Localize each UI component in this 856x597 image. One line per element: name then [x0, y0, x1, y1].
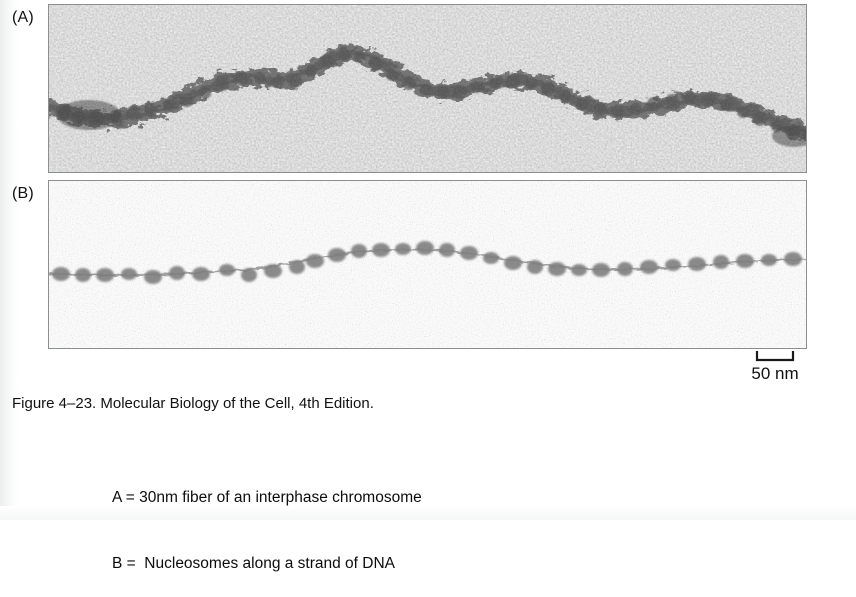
- page-edge-shadow-left: [0, 0, 18, 520]
- panel-a-micrograph-svg: [49, 5, 806, 172]
- panel-a-label: (A): [12, 10, 34, 26]
- legend-line-a: A = 30nm fiber of an interphase chromoso…: [112, 487, 422, 509]
- panel-b-micrograph-svg: [49, 181, 806, 348]
- panel-b-micrograph: [48, 180, 807, 349]
- panel-a-micrograph: [48, 4, 807, 173]
- scale-bar: 50 nm: [740, 350, 810, 384]
- legend-line-b: B = Nucleosomes along a strand of DNA: [112, 553, 422, 575]
- scale-bar-label: 50 nm: [740, 364, 810, 384]
- figure-legend: A = 30nm fiber of an interphase chromoso…: [112, 443, 422, 597]
- figure-caption: Figure 4–23. Molecular Biology of the Ce…: [12, 394, 374, 413]
- panel-b-label: (B): [12, 186, 34, 202]
- scale-bar-bracket-icon: [754, 350, 796, 363]
